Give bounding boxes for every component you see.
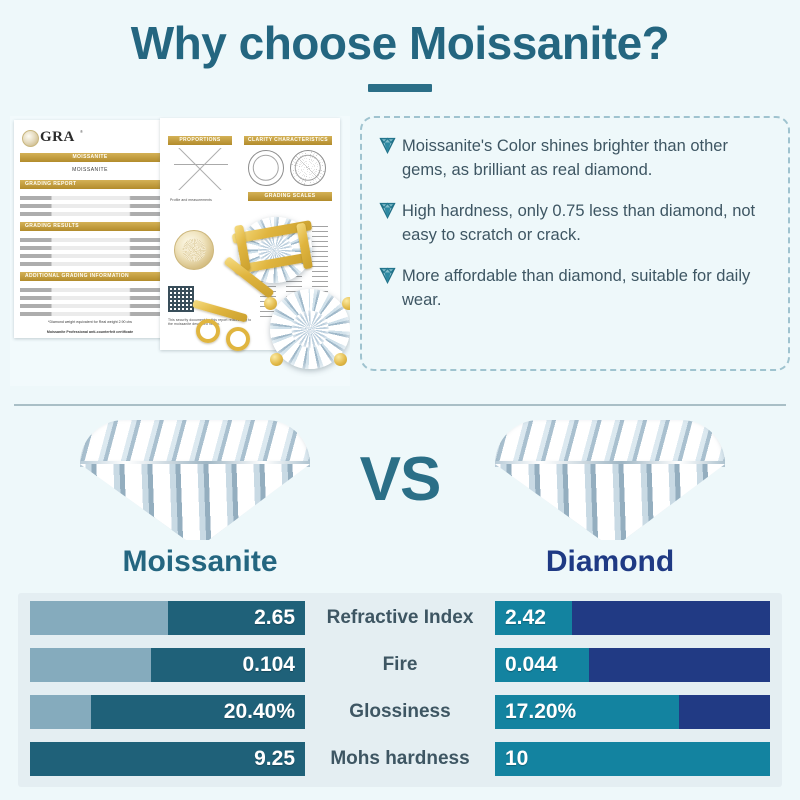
- diamond-value: 2.42: [505, 601, 546, 635]
- metric-label-fire: Fire: [305, 648, 495, 682]
- prong-ball-bottom-right: [334, 353, 347, 366]
- certificate-tagline: Moissanite Professional anti-counterfeit…: [14, 330, 166, 334]
- field-row: [20, 246, 160, 250]
- table-row: 0.104 Fire 0.044: [30, 648, 770, 682]
- benefit-item: Moissanite's Color shines brighter than …: [378, 134, 770, 182]
- benefit-item: More affordable than diamond, suitable f…: [378, 264, 770, 312]
- section-divider: [14, 404, 786, 406]
- title-underline-accent: [368, 84, 432, 92]
- moissanite-earring-photo: [182, 211, 350, 386]
- section-additional-grading-information: ADDITIONAL GRADING INFORMATION: [20, 272, 160, 281]
- moissanite-bar-fire: 0.104: [30, 648, 305, 682]
- diamond-value: 17.20%: [505, 695, 576, 729]
- table-row: 2.65 Refractive Index 2.42: [30, 601, 770, 635]
- certificate-subtitle: MOISSANITE: [14, 167, 166, 173]
- moissanite-name-label: Moissanite: [60, 545, 340, 579]
- field-row: [20, 212, 160, 216]
- page-title: Why choose Moissanite?: [0, 16, 800, 70]
- benefit-text: More affordable than diamond, suitable f…: [402, 264, 770, 312]
- earring-back-loop-left: [196, 319, 220, 343]
- field-row: [20, 288, 160, 292]
- field-row: [20, 238, 160, 242]
- field-row: [20, 296, 160, 300]
- diamond-gem-icon: [378, 199, 402, 224]
- moissanite-bar-glossiness: 20.40%: [30, 695, 305, 729]
- registered-trademark-icon: ®: [80, 129, 83, 134]
- versus-section: VS Moissanite Diamond: [0, 412, 800, 592]
- metric-label-glossiness: Glossiness: [305, 695, 495, 729]
- prong-ball-bottom-left: [270, 353, 283, 366]
- diamond-gem-icon: [378, 134, 402, 159]
- field-row: [20, 312, 160, 316]
- table-row: 20.40% Glossiness 17.20%: [30, 695, 770, 729]
- section-proportions: PROPORTIONS: [168, 136, 232, 145]
- field-row: [20, 204, 160, 208]
- comparison-table: 2.65 Refractive Index 2.42 0.104 Fire 0.…: [18, 593, 782, 787]
- gra-brand-name: GRA: [40, 129, 75, 146]
- certificate-footnote: *Diamond weight equivalent for Real weig…: [14, 320, 166, 324]
- earring-butterfly-back: [192, 299, 248, 322]
- vs-label: VS: [330, 444, 470, 515]
- clarity-facet-icon: [290, 150, 326, 186]
- diamond-value: 0.044: [505, 648, 558, 682]
- proportions-caption: Profile and measurements: [170, 198, 232, 202]
- field-row: [20, 262, 160, 266]
- moissanite-value: 0.104: [242, 648, 295, 682]
- benefit-item: High hardness, only 0.75 less than diamo…: [378, 199, 770, 247]
- diamond-gem-image: [495, 420, 725, 540]
- proportions-diagram: [170, 148, 232, 190]
- moissanite-bar-refractive-index: 2.65: [30, 601, 305, 635]
- diamond-bar-mohs-hardness: 10: [495, 742, 770, 776]
- metric-label-refractive-index: Refractive Index: [305, 601, 495, 635]
- moissanite-gem-image: [80, 420, 310, 540]
- moissanite-value: 2.65: [254, 601, 295, 635]
- table-row: 9.25 Mohs hardness 10: [30, 742, 770, 776]
- top-section: GRA ® MOISSANITE MOISSANITE GRADING REPO…: [0, 108, 800, 398]
- benefit-text: High hardness, only 0.75 less than diamo…: [402, 199, 770, 247]
- diamond-bar-fire: 0.044: [495, 648, 770, 682]
- diamond-bar-refractive-index: 2.42: [495, 601, 770, 635]
- certificate-product-photo: GRA ® MOISSANITE MOISSANITE GRADING REPO…: [10, 116, 350, 386]
- prong-ball-left: [264, 297, 277, 310]
- diamond-name-label: Diamond: [470, 545, 750, 579]
- prong-ball-right: [342, 297, 350, 310]
- earring-back-loop-right: [226, 327, 250, 351]
- section-grading-scales: GRADING SCALES: [248, 192, 332, 201]
- section-clarity-characteristics: CLARITY CHARACTERISTICS: [244, 136, 332, 145]
- field-row: [20, 196, 160, 200]
- certificate-page-left: GRA ® MOISSANITE MOISSANITE GRADING REPO…: [14, 120, 166, 338]
- field-row: [20, 304, 160, 308]
- metric-label-mohs-hardness: Mohs hardness: [305, 742, 495, 776]
- diamond-gem-icon: [378, 264, 402, 289]
- section-grading-results: GRADING RESULTS: [20, 222, 160, 231]
- field-row: [20, 254, 160, 258]
- header: Why choose Moissanite?: [0, 0, 800, 100]
- certificate-banner-title: MOISSANITE: [20, 153, 160, 162]
- section-grading-report: GRADING REPORT: [20, 180, 160, 189]
- diamond-value: 10: [505, 742, 528, 776]
- clarity-plot-icon: [248, 150, 284, 186]
- moissanite-bar-mohs-hardness: 9.25: [30, 742, 305, 776]
- gra-seal-icon: [22, 130, 39, 147]
- moissanite-value: 20.40%: [224, 695, 295, 729]
- moissanite-value: 9.25: [254, 742, 295, 776]
- benefits-card: Moissanite's Color shines brighter than …: [360, 116, 790, 371]
- diamond-bar-glossiness: 17.20%: [495, 695, 770, 729]
- benefit-text: Moissanite's Color shines brighter than …: [402, 134, 770, 182]
